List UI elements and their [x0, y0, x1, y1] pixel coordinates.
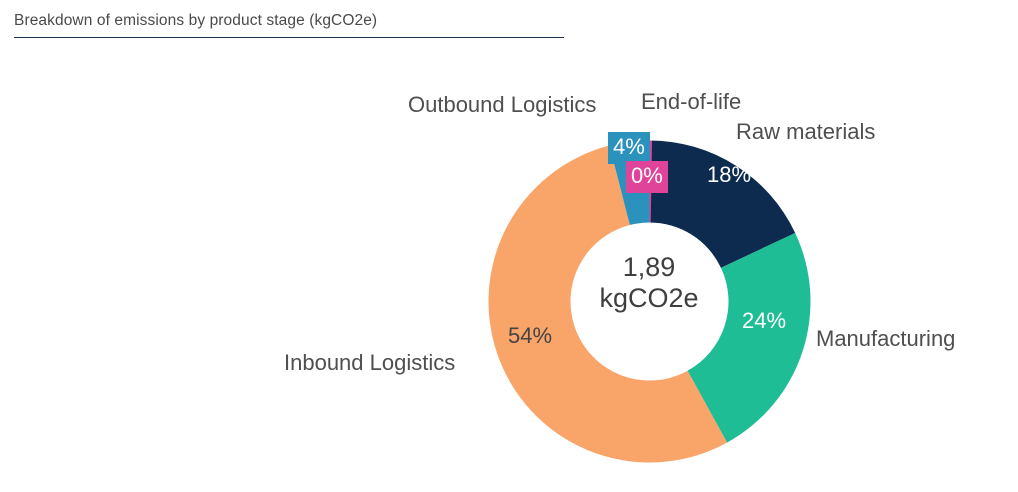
- slice-value-label-inbound-logistics: 54%: [508, 325, 552, 347]
- slice-name-label-inbound-logistics: Inbound Logistics: [284, 350, 455, 376]
- slice-value-label-raw-materials: 18%: [707, 164, 751, 186]
- slice-name-label-end-of-life: End-of-life: [641, 89, 741, 115]
- slice-value-label-end-of-life: 0%: [626, 161, 668, 193]
- slice-name-label-raw-materials: Raw materials: [736, 119, 875, 145]
- slice-value-label-outbound-logistics: 4%: [608, 132, 650, 164]
- slice-name-label-manufacturing: Manufacturing: [816, 326, 955, 352]
- donut-chart-svg: [0, 0, 1018, 492]
- slice-name-label-outbound-logistics: Outbound Logistics: [408, 92, 596, 118]
- donut-chart: 1,89 kgCO2e Raw materials18%Manufacturin…: [0, 0, 1018, 492]
- slice-value-label-manufacturing: 24%: [742, 310, 786, 332]
